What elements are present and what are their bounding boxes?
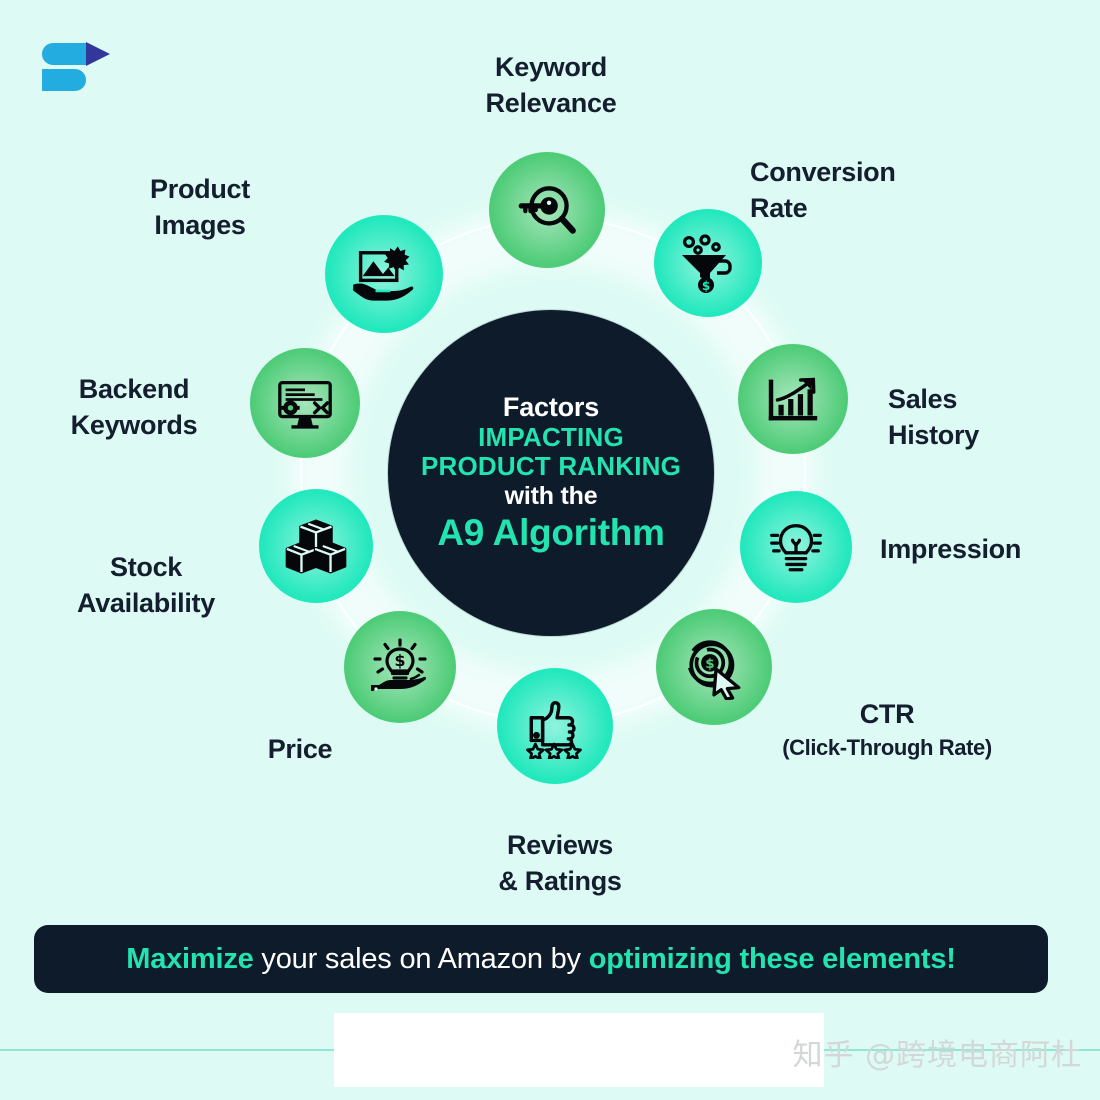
brand-logo-icon xyxy=(40,40,118,96)
hub-line-4: with the xyxy=(505,482,598,510)
label-line1: Keyword xyxy=(495,52,607,82)
svg-text:$: $ xyxy=(705,657,714,672)
thumbs-up-stars-icon xyxy=(522,693,588,759)
label-conversion-rate: Conversion Rate xyxy=(750,155,1000,226)
lightbulb-rays-icon xyxy=(765,516,827,578)
label-line1: CTR xyxy=(860,699,915,729)
hub-line-2: IMPACTING xyxy=(478,423,624,452)
label-line1: Reviews xyxy=(507,830,613,860)
label-line2: Availability xyxy=(77,588,215,618)
boxes-stack-icon xyxy=(285,515,347,577)
label-line2: & Ratings xyxy=(498,866,621,896)
cta-banner-text: Maximize your sales on Amazon by optimiz… xyxy=(126,943,956,976)
label-line1: Impression xyxy=(880,534,1021,564)
monitor-code-gear-icon xyxy=(274,372,336,434)
cta-middle: your sales on Amazon by xyxy=(254,943,589,975)
label-line2: Relevance xyxy=(486,88,617,118)
label-line1: Product xyxy=(150,174,250,204)
label-stock-availability: Stock Availability xyxy=(30,550,262,621)
target-cursor-dollar-icon: $ xyxy=(681,634,747,700)
footer-white-block xyxy=(334,1013,824,1087)
label-product-images: Product Images xyxy=(100,172,300,243)
label-line2: Keywords xyxy=(71,410,198,440)
label-line1: Backend xyxy=(79,374,189,404)
cta-highlight-1: Maximize xyxy=(126,943,253,975)
central-hub: Factors IMPACTING PRODUCT RANKING with t… xyxy=(388,310,714,636)
node-stock-availability[interactable] xyxy=(259,489,373,603)
label-sub: (Click-Through Rate) xyxy=(742,733,1032,762)
label-reviews-ratings: Reviews & Ratings xyxy=(437,828,683,899)
node-product-images[interactable] xyxy=(325,215,443,333)
label-ctr: CTR (Click-Through Rate) xyxy=(742,697,1032,762)
label-impression: Impression xyxy=(880,532,1100,568)
label-line1: Price xyxy=(268,734,333,764)
cta-banner: Maximize your sales on Amazon by optimiz… xyxy=(34,925,1048,993)
label-line2: Images xyxy=(154,210,245,240)
hub-line-3: PRODUCT RANKING xyxy=(421,452,681,481)
bar-chart-growth-icon xyxy=(762,368,824,430)
svg-text:$: $ xyxy=(702,279,710,293)
node-sales-history[interactable] xyxy=(738,344,848,454)
funnel-dollar-icon: $ xyxy=(676,231,740,295)
svg-text:$: $ xyxy=(394,651,405,670)
hand-bulb-dollar-icon: $ xyxy=(368,635,432,699)
node-conversion-rate[interactable]: $ xyxy=(654,209,762,317)
brand-logo xyxy=(40,40,118,96)
hand-image-star-icon xyxy=(350,240,418,308)
infographic-canvas: Factors IMPACTING PRODUCT RANKING with t… xyxy=(0,0,1100,1100)
node-keyword-relevance[interactable] xyxy=(489,152,605,268)
label-price: Price xyxy=(200,732,400,768)
node-backend-keywords[interactable] xyxy=(250,348,360,458)
node-price[interactable]: $ xyxy=(344,611,456,723)
label-line2: History xyxy=(888,420,979,450)
label-line1: Sales xyxy=(888,384,957,414)
node-reviews-ratings[interactable] xyxy=(497,668,613,784)
watermark: 知乎 @跨境电商阿杜 xyxy=(792,1030,1082,1074)
hub-line-1: Factors xyxy=(503,392,599,423)
key-magnifier-icon xyxy=(514,177,580,243)
cta-highlight-2: optimizing these elements! xyxy=(589,943,956,975)
label-backend-keywords: Backend Keywords xyxy=(25,372,243,443)
label-line2: Rate xyxy=(750,193,807,223)
node-impression[interactable] xyxy=(740,491,852,603)
label-line1: Stock xyxy=(110,552,182,582)
label-line1: Conversion xyxy=(750,157,896,187)
hub-line-5: A9 Algorithm xyxy=(437,512,664,554)
label-sales-history: Sales History xyxy=(888,382,1088,453)
label-keyword-relevance: Keyword Relevance xyxy=(430,50,672,121)
